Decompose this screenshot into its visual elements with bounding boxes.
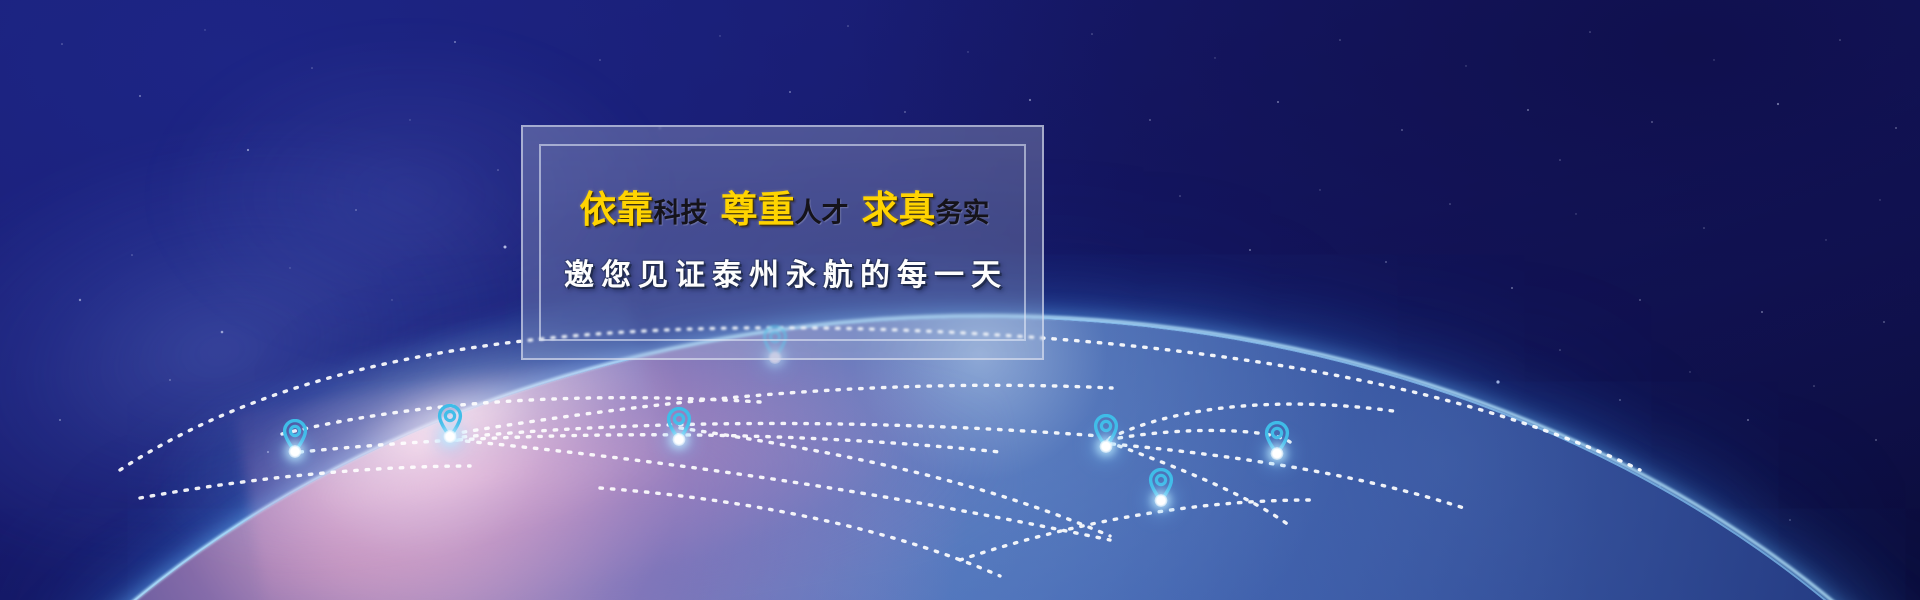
slogan-subtitle: 邀您见证泰州永航的每一天: [557, 250, 1008, 294]
slogan-panel: 依靠科技尊重人才求真务实 邀您见证泰州永航的每一天: [521, 125, 1044, 360]
slogan-headline: 依靠科技尊重人才求真务实: [576, 191, 990, 228]
headline-seg-dark-2: 人才: [795, 198, 849, 229]
headline-seg-gold-3: 求真: [862, 187, 936, 231]
pin-east-asia[interactable]: [1093, 414, 1119, 448]
pin-node-dot: [1271, 447, 1284, 460]
headline-seg-dark-1: 科技: [654, 198, 708, 229]
pin-node-dot: [1155, 494, 1168, 507]
pin-south-east[interactable]: [1148, 468, 1174, 502]
headline-seg-gold-2: 尊重: [721, 187, 795, 231]
pin-node-dot: [289, 445, 302, 458]
pin-far-east[interactable]: [1264, 421, 1290, 455]
pin-west-africa[interactable]: [437, 404, 463, 438]
pin-node-dot: [673, 433, 686, 446]
headline-seg-gold-1: 依靠: [580, 187, 654, 231]
pin-node-dot: [444, 430, 457, 443]
pin-central[interactable]: [666, 407, 692, 441]
slogan-content: 依靠科技尊重人才求真务实 邀您见证泰州永航的每一天: [523, 127, 1042, 358]
pin-west-atlantic[interactable]: [282, 419, 308, 453]
pin-node-dot: [1100, 440, 1113, 453]
hero-banner: 依靠科技尊重人才求真务实 邀您见证泰州永航的每一天: [0, 0, 1920, 600]
headline-seg-dark-3: 务实: [936, 198, 990, 229]
